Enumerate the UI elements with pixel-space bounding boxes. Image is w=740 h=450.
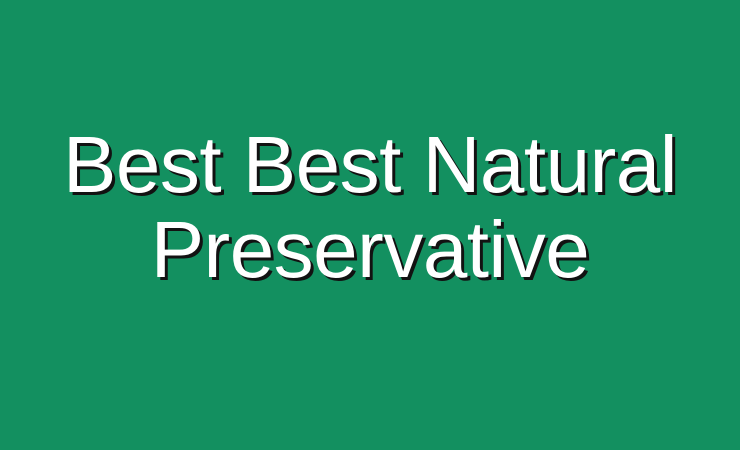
- page-title: Best Best Natural Preservative: [0, 122, 740, 292]
- title-banner: Best Best Natural Preservative: [0, 0, 740, 450]
- page-title-line-2: Preservative: [28, 207, 712, 292]
- page-title-line-1: Best Best Natural: [28, 122, 712, 207]
